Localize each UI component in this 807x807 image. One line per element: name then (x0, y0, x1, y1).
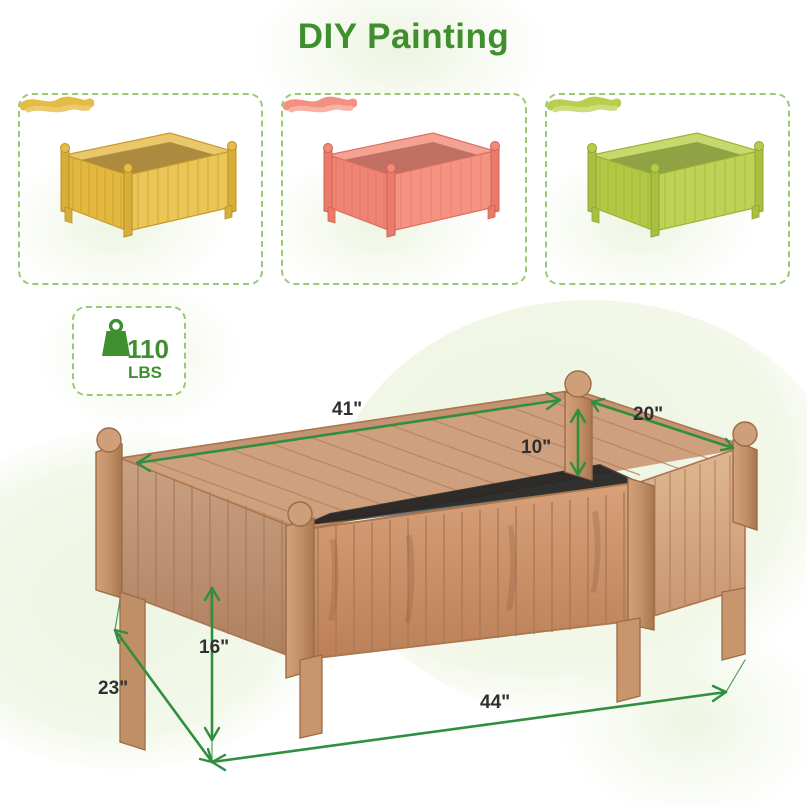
dimension-base-length: 44" (480, 692, 510, 714)
color-swatch-green (547, 95, 621, 115)
main-planter-illustration (0, 330, 807, 807)
green-planter-card[interactable] (545, 93, 790, 285)
color-swatch-pink (283, 95, 357, 115)
dimension-inner-depth: 10" (521, 437, 551, 459)
paint-option-cards (18, 93, 790, 281)
planter-illustration-pink (283, 95, 526, 283)
planter-illustration-green (547, 95, 790, 283)
color-swatch-yellow (20, 95, 94, 115)
planter-illustration-yellow (20, 95, 263, 283)
dimension-top-width: 20" (633, 404, 663, 426)
yellow-planter-card[interactable] (18, 93, 263, 285)
dimension-top-length: 41" (332, 399, 362, 421)
dimension-height: 16" (199, 637, 229, 659)
pink-planter-card[interactable] (281, 93, 526, 285)
diagram-page: DIY Painting (0, 0, 807, 807)
dimension-base-width: 23" (98, 678, 128, 700)
page-title: DIY Painting (0, 17, 807, 57)
